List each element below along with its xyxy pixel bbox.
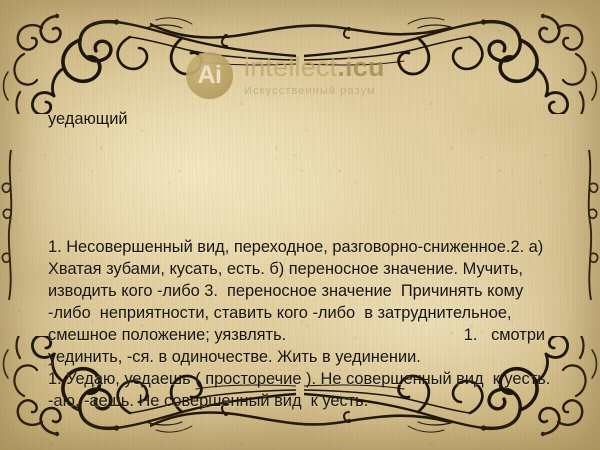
dictionary-entry: уедающий 1. Несовершенный вид, переходно… [48,64,553,450]
ornament-border-left [0,150,20,300]
entry-headword: уедающий [48,108,553,130]
parchment-page: Ai intellect.icu Искусственный разум уед… [0,0,600,450]
entry-spacer [48,174,553,191]
entry-body: 1. Несовершенный вид, переходное, разгов… [48,236,553,413]
ornament-border-right [580,150,600,300]
ornament-top-wave [150,14,450,48]
